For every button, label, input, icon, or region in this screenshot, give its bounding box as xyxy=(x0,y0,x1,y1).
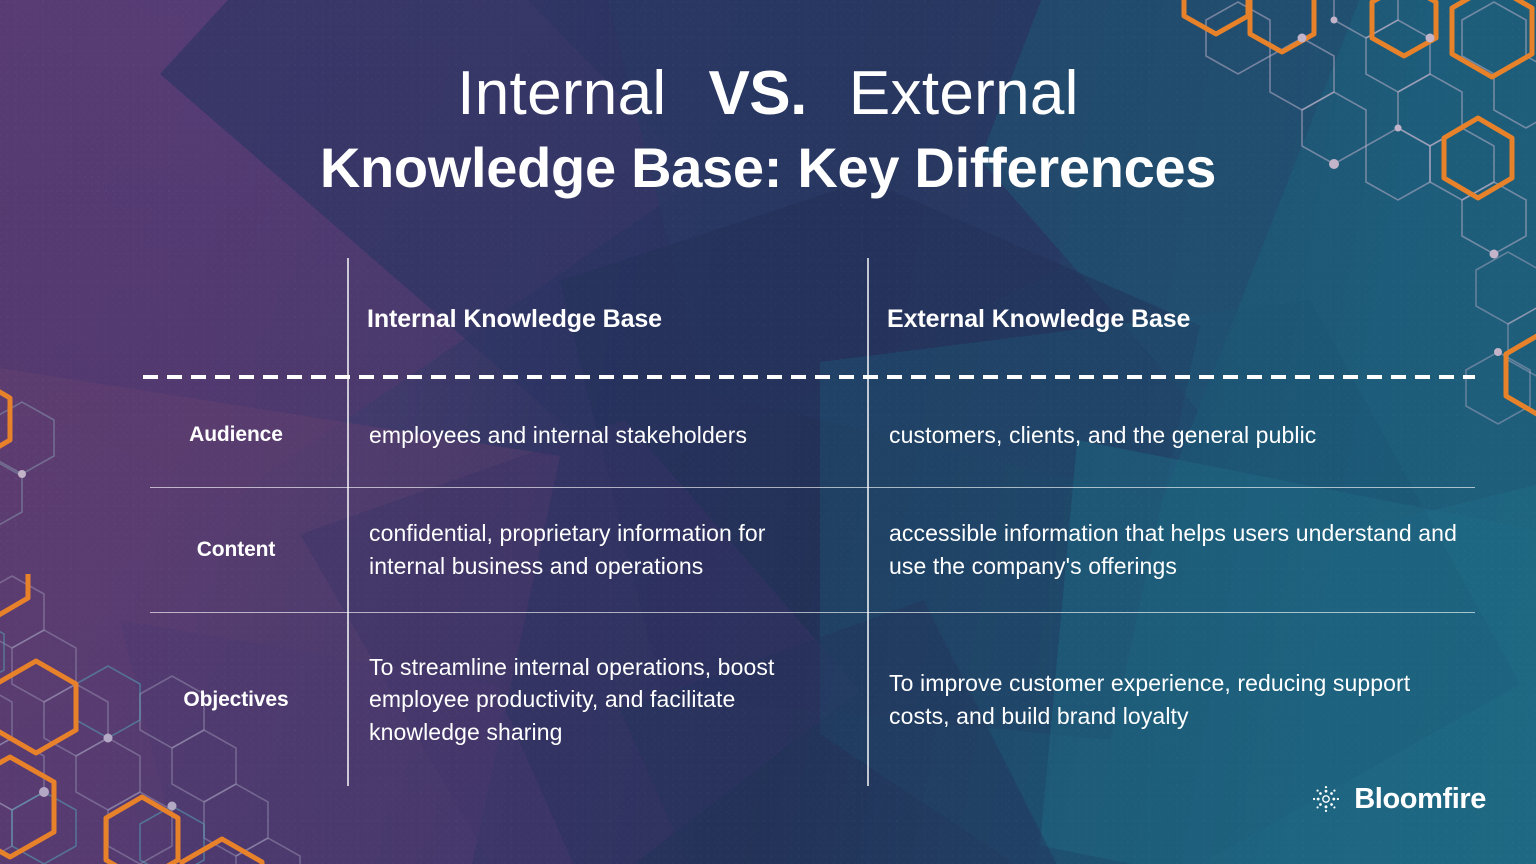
cell-internal-audience: employees and internal stakeholders xyxy=(347,383,867,487)
table-row: Objectives To streamline internal operat… xyxy=(143,613,1475,786)
row-label-audience: Audience xyxy=(143,383,347,487)
title-word-internal: Internal xyxy=(457,59,666,128)
header-dashed-divider xyxy=(143,375,1475,379)
cell-external-audience: customers, clients, and the general publ… xyxy=(867,383,1475,487)
row-label-objectives: Objectives xyxy=(143,613,347,786)
bloomfire-logo: Bloomfire xyxy=(1309,782,1486,816)
slide-title: InternalVS.External Knowledge Base: Key … xyxy=(0,62,1536,196)
title-line-2: Knowledge Base: Key Differences xyxy=(0,139,1536,196)
title-word-vs: VS. xyxy=(708,59,806,128)
comparison-table: Internal Knowledge Base External Knowled… xyxy=(143,258,1475,786)
cell-external-objectives: To improve customer experience, reducing… xyxy=(867,613,1475,786)
column-header-internal: Internal Knowledge Base xyxy=(367,284,662,354)
cell-external-content: accessible information that helps users … xyxy=(867,488,1475,612)
column-header-external: External Knowledge Base xyxy=(887,284,1190,354)
title-line-1: InternalVS.External xyxy=(0,62,1536,125)
bloomfire-wordmark: Bloomfire xyxy=(1354,783,1486,816)
row-label-content: Content xyxy=(143,488,347,612)
cell-internal-content: confidential, proprietary information fo… xyxy=(347,488,867,612)
title-word-external: External xyxy=(849,59,1079,128)
bloomfire-burst-icon xyxy=(1309,782,1343,816)
table-row: Audience employees and internal stakehol… xyxy=(143,383,1475,487)
cell-internal-objectives: To streamline internal operations, boost… xyxy=(347,613,867,786)
table-row: Content confidential, proprietary inform… xyxy=(143,488,1475,612)
slide-canvas: InternalVS.External Knowledge Base: Key … xyxy=(0,0,1536,864)
